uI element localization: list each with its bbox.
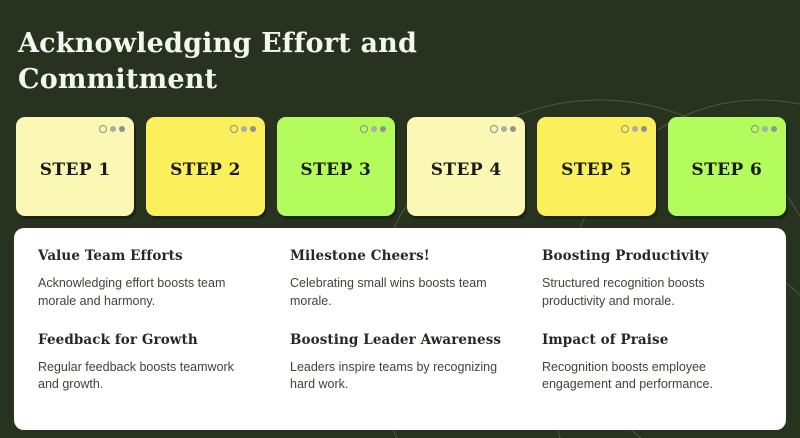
fact-title: Boosting Leader Awareness: [290, 332, 520, 348]
fact-body: Celebrating small wins boosts team moral…: [290, 275, 506, 311]
dot-solid-icon: [510, 126, 516, 132]
window-dots-icon: [621, 125, 647, 133]
fact-item: Boosting Productivity Structured recogni…: [542, 248, 772, 311]
step-card-5[interactable]: STEP 5: [537, 117, 655, 216]
content-panel: Value Team Efforts Acknowledging effort …: [14, 228, 786, 430]
window-dots-icon: [751, 125, 777, 133]
fact-title: Value Team Efforts: [38, 248, 268, 264]
window-dots-icon: [230, 125, 256, 133]
step-label: STEP 5: [561, 160, 632, 180]
step-label: STEP 3: [300, 160, 371, 180]
fact-body: Structured recognition boosts productivi…: [542, 275, 758, 311]
step-card-2[interactable]: STEP 2: [146, 117, 264, 216]
dot-solid-icon: [250, 126, 256, 132]
dot-solid-icon: [119, 126, 125, 132]
slide-canvas: Acknowledging Effort and Commitment STEP…: [0, 0, 800, 438]
step-card-3[interactable]: STEP 3: [277, 117, 395, 216]
dot-hollow-icon: [490, 125, 498, 133]
step-label: STEP 2: [170, 160, 241, 180]
dot-solid-icon: [241, 126, 247, 132]
steps-strip: STEP 1 STEP 2 STEP 3 STEP: [16, 117, 786, 216]
dot-solid-icon: [641, 126, 647, 132]
fact-body: Leaders inspire teams by recognizing har…: [290, 359, 506, 395]
window-dots-icon: [360, 125, 386, 133]
fact-title: Impact of Praise: [542, 332, 772, 348]
fact-title: Boosting Productivity: [542, 248, 772, 264]
dot-solid-icon: [501, 126, 507, 132]
step-card-4[interactable]: STEP 4: [407, 117, 525, 216]
window-dots-icon: [99, 125, 125, 133]
fact-title: Feedback for Growth: [38, 332, 268, 348]
dot-solid-icon: [380, 126, 386, 132]
facts-grid: Value Team Efforts Acknowledging effort …: [38, 248, 772, 394]
dot-solid-icon: [771, 126, 777, 132]
fact-item: Value Team Efforts Acknowledging effort …: [38, 248, 268, 311]
step-card-6[interactable]: STEP 6: [668, 117, 786, 216]
dot-hollow-icon: [230, 125, 238, 133]
dot-solid-icon: [762, 126, 768, 132]
fact-body: Recognition boosts employee engagement a…: [542, 359, 758, 395]
fact-item: Feedback for Growth Regular feedback boo…: [38, 332, 268, 395]
step-label: STEP 6: [691, 160, 762, 180]
step-label: STEP 4: [431, 160, 502, 180]
fact-body: Regular feedback boosts teamwork and gro…: [38, 359, 254, 395]
fact-body: Acknowledging effort boosts team morale …: [38, 275, 254, 311]
fact-item: Boosting Leader Awareness Leaders inspir…: [290, 332, 520, 395]
step-label: STEP 1: [40, 160, 111, 180]
page-title: Acknowledging Effort and Commitment: [18, 26, 538, 98]
fact-item: Milestone Cheers! Celebrating small wins…: [290, 248, 520, 311]
dot-solid-icon: [110, 126, 116, 132]
dot-solid-icon: [371, 126, 377, 132]
step-card-1[interactable]: STEP 1: [16, 117, 134, 216]
dot-hollow-icon: [99, 125, 107, 133]
fact-item: Impact of Praise Recognition boosts empl…: [542, 332, 772, 395]
dot-hollow-icon: [751, 125, 759, 133]
dot-hollow-icon: [621, 125, 629, 133]
fact-title: Milestone Cheers!: [290, 248, 520, 264]
dot-solid-icon: [632, 126, 638, 132]
window-dots-icon: [490, 125, 516, 133]
dot-hollow-icon: [360, 125, 368, 133]
